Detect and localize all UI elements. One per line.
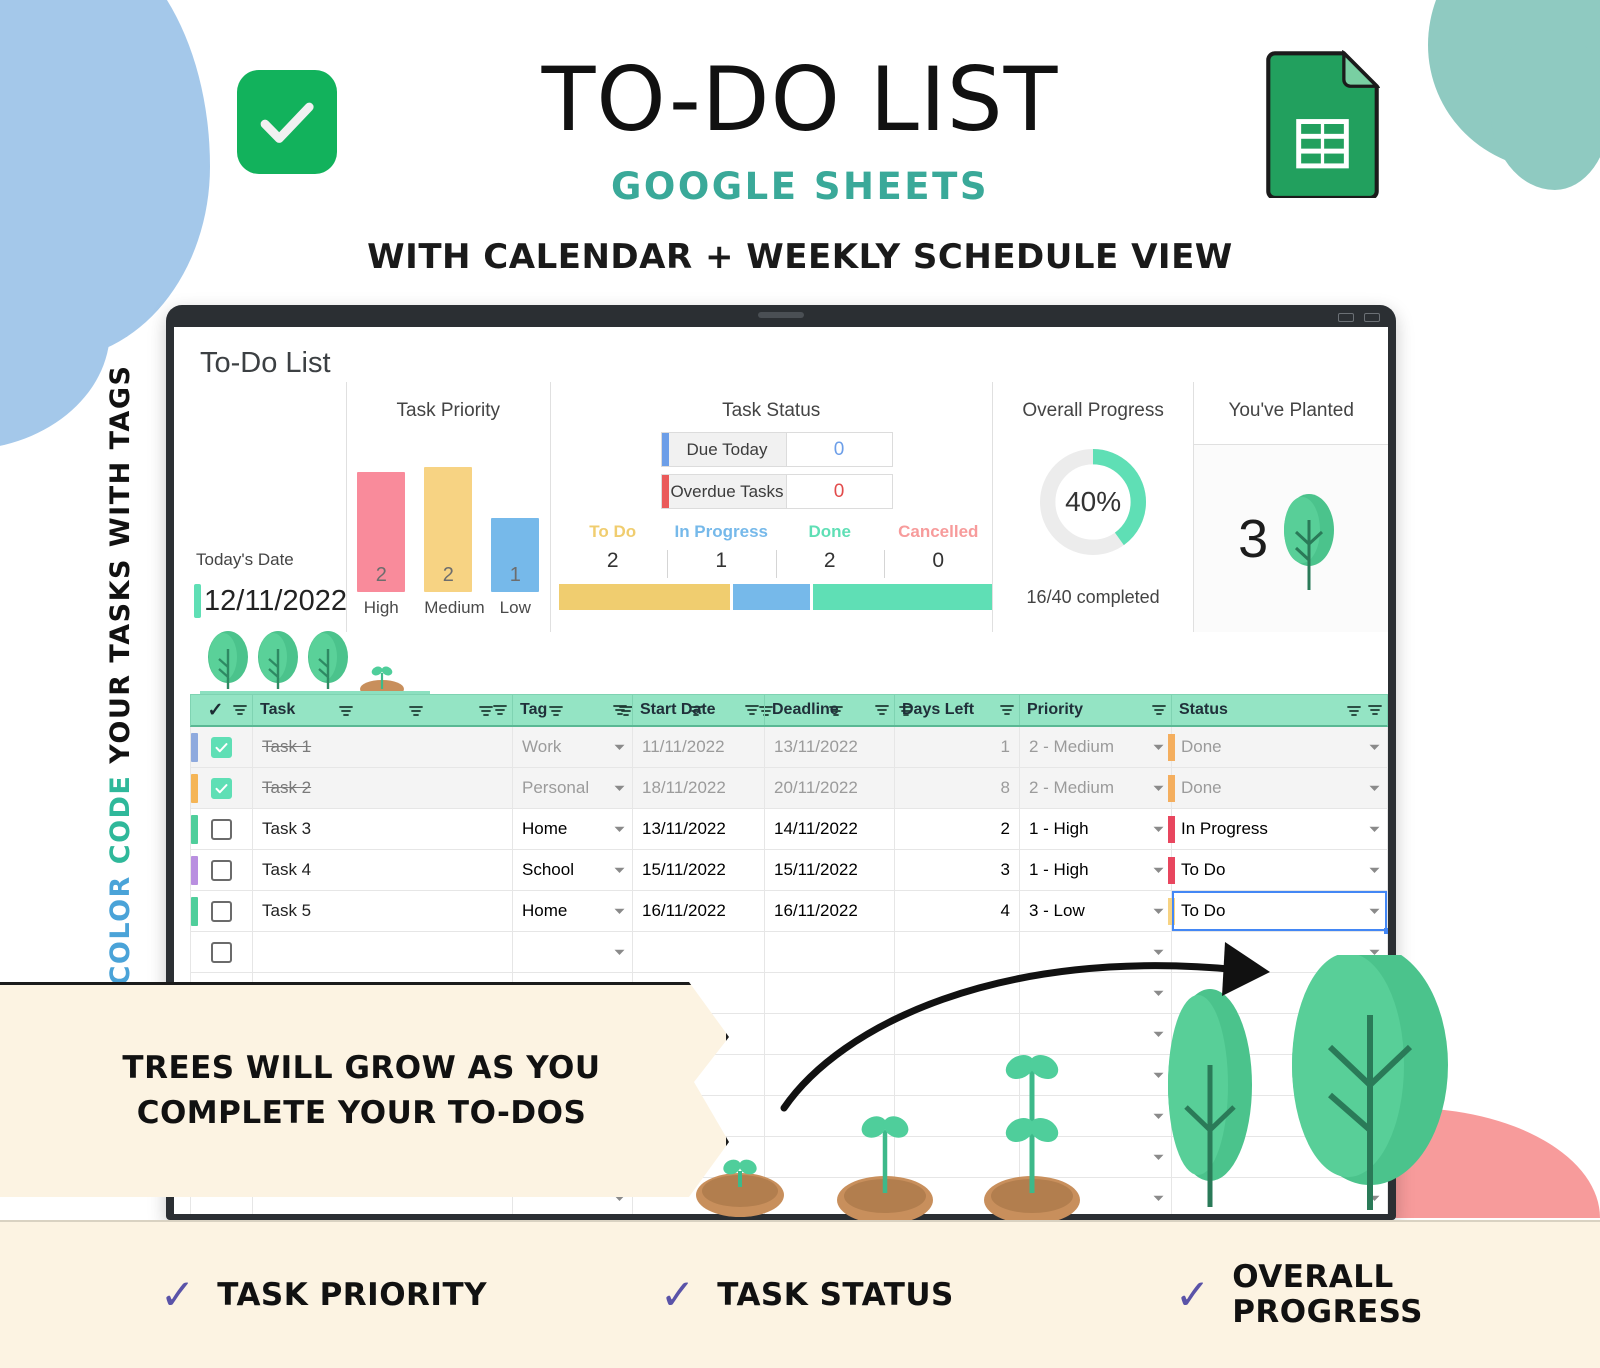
- cell-priority[interactable]: 3 - Low: [1020, 891, 1172, 931]
- panel-overall-progress: Overall Progress 40% 16/40 completed: [992, 382, 1194, 632]
- feature-label: OVERALLPROGRESS: [1232, 1260, 1423, 1329]
- status-stack-segment-done: [813, 584, 993, 610]
- cell-deadline[interactable]: 20/11/2022: [765, 768, 895, 808]
- cell-tag[interactable]: School: [513, 850, 633, 890]
- cell-tag[interactable]: Home: [513, 891, 633, 931]
- row-checkbox-cell[interactable]: [191, 727, 253, 767]
- column-header-days-left-label: Days Left: [902, 701, 974, 719]
- feature-label: TASK STATUS: [717, 1278, 954, 1313]
- cell-start-date[interactable]: 18/11/2022: [633, 768, 765, 808]
- bar-low: 1: [491, 518, 539, 592]
- cell-deadline[interactable]: 15/11/2022: [765, 850, 895, 890]
- chevron-down-icon[interactable]: [614, 826, 625, 833]
- footer-features: ✓ TASK PRIORITY ✓ TASK STATUS ✓ OVERALLP…: [0, 1220, 1600, 1368]
- row-tag-color-bar: [191, 774, 198, 803]
- bar-low-rect: 1: [491, 518, 539, 592]
- status-label-inprogress: In Progress: [667, 522, 776, 542]
- side-label-accent-1: COLOR: [105, 875, 136, 985]
- cell-days-left[interactable]: 4: [895, 891, 1020, 931]
- progress-subtitle: 16/40 completed: [993, 587, 1194, 608]
- chevron-down-icon[interactable]: [1369, 867, 1380, 874]
- filter-icon[interactable]: [745, 704, 759, 716]
- side-label-rest: YOUR TASKS WITH TAGS: [105, 365, 136, 764]
- cell-deadline[interactable]: 13/11/2022: [765, 727, 895, 767]
- kpi-overdue-label: Overdue Tasks: [669, 475, 787, 508]
- table-row[interactable]: Task 5Home16/11/202216/11/202243 - LowTo…: [190, 891, 1388, 932]
- panel-task-status: Task Status Due Today 0 Overdue Tasks 0 …: [550, 382, 992, 632]
- cell-deadline[interactable]: 14/11/2022: [765, 809, 895, 849]
- sheet-title: To-Do List: [200, 347, 331, 380]
- poster-header: TO-DO LIST GOOGLE SHEETS WITH CALENDAR +…: [0, 0, 1600, 300]
- check-icon: ✓: [1175, 1274, 1210, 1316]
- bar-high-value: 2: [376, 564, 387, 587]
- task-status-title: Task Status: [551, 400, 992, 422]
- tree-icon: [258, 631, 298, 689]
- cell-task[interactable]: Task 4: [253, 850, 513, 890]
- chevron-down-icon[interactable]: [1153, 908, 1164, 915]
- chevron-down-icon[interactable]: [614, 744, 625, 751]
- check-icon: ✓: [160, 1274, 195, 1316]
- filter-icon[interactable]: [233, 704, 247, 716]
- cell-days-left[interactable]: 2: [895, 809, 1020, 849]
- cell-status[interactable]: Done: [1172, 768, 1387, 808]
- column-header-task[interactable]: Task: [253, 695, 513, 725]
- chevron-down-icon[interactable]: [614, 867, 625, 874]
- chevron-down-icon[interactable]: [1153, 744, 1164, 751]
- bar-label-low: Low: [491, 598, 539, 618]
- task-table-header: ✓ Task: [190, 694, 1388, 727]
- cell-status[interactable]: To Do: [1172, 850, 1387, 890]
- status-col-cancelled: Cancelled 0: [884, 522, 993, 573]
- column-header-tag[interactable]: Tag: [513, 695, 633, 725]
- planted-count: 3: [1238, 508, 1268, 570]
- panel-youve-planted: You've Planted 3: [1193, 382, 1388, 632]
- chevron-down-icon[interactable]: [1153, 867, 1164, 874]
- tree-icon: [308, 631, 348, 689]
- status-label-done: Done: [776, 522, 885, 542]
- feature-task-priority: ✓ TASK PRIORITY: [160, 1274, 487, 1316]
- youve-planted-title: You've Planted: [1194, 400, 1388, 422]
- column-header-deadline[interactable]: Deadline: [765, 695, 895, 725]
- bar-medium-value: 2: [443, 564, 454, 587]
- kpi-overdue-value: 0: [787, 475, 892, 508]
- column-header-start-date-label: Start Date: [640, 701, 716, 719]
- filter-icon[interactable]: [1000, 704, 1014, 716]
- bar-high-rect: 2: [357, 472, 405, 592]
- task-priority-bars: 2 2 1: [347, 442, 549, 592]
- status-value-todo: 2: [559, 549, 668, 573]
- filter-icon[interactable]: [479, 704, 493, 722]
- task-complete-checkbox[interactable]: [211, 860, 232, 881]
- bar-medium-rect: 2: [424, 467, 472, 592]
- status-stacked-bar: [559, 584, 993, 610]
- callout-line-2: COMPLETE YOUR TO-DOS: [32, 1091, 692, 1136]
- webcam-icon: [758, 312, 804, 318]
- feature-label: TASK PRIORITY: [217, 1278, 487, 1313]
- dashboard: Today's Date 12/11/2022 Task Priority 2: [174, 382, 1388, 632]
- cell-priority[interactable]: 1 - High: [1020, 850, 1172, 890]
- column-header-start-date[interactable]: Start Date: [633, 695, 765, 725]
- cell-status[interactable]: In Progress: [1172, 809, 1387, 849]
- tree-progress-strip: [200, 625, 430, 695]
- status-col-inprogress: In Progress 1: [667, 522, 776, 573]
- cell-deadline[interactable]: 16/11/2022: [765, 891, 895, 931]
- filter-icon[interactable]: [875, 704, 889, 716]
- table-row[interactable]: Task 4School15/11/202215/11/202231 - Hig…: [190, 850, 1388, 891]
- tree-icon: [208, 631, 248, 689]
- column-header-days-left[interactable]: Days Left: [895, 695, 1020, 725]
- cell-tag[interactable]: Home: [513, 809, 633, 849]
- cell-task[interactable]: [253, 932, 513, 972]
- table-row[interactable]: Task 3Home13/11/202214/11/202221 - HighI…: [190, 809, 1388, 850]
- bar-low-value: 1: [510, 564, 521, 587]
- row-tag-color-bar: [191, 733, 198, 762]
- chevron-down-icon[interactable]: [1369, 785, 1380, 792]
- cell-tag[interactable]: Work: [513, 727, 633, 767]
- status-col-todo: To Do 2: [559, 522, 668, 573]
- task-complete-checkbox[interactable]: [211, 778, 232, 799]
- tree-icon: [1274, 486, 1344, 591]
- column-header-status-label: Status: [1179, 701, 1228, 719]
- chevron-down-icon[interactable]: [614, 785, 625, 792]
- cell-start-date[interactable]: 11/11/2022: [633, 727, 765, 767]
- row-tag-color-bar: [191, 897, 198, 926]
- bar-label-medium: Medium: [424, 598, 472, 618]
- status-value-done: 2: [776, 549, 885, 573]
- column-header-check[interactable]: ✓: [191, 695, 253, 725]
- kpi-due-today: Due Today 0: [661, 432, 893, 467]
- row-tag-color-bar: [191, 856, 198, 885]
- table-row[interactable]: Task 1Work11/11/202213/11/202212 - Mediu…: [190, 727, 1388, 768]
- task-priority-axis-labels: High Medium Low: [347, 598, 549, 618]
- column-header-status[interactable]: Status: [1172, 695, 1387, 725]
- bar-label-high: High: [357, 598, 405, 618]
- window-controls[interactable]: [1338, 313, 1380, 322]
- cell-task[interactable]: Task 5: [253, 891, 513, 931]
- row-tag-color-bar: [191, 815, 198, 844]
- cell-tag[interactable]: [513, 932, 633, 972]
- todays-date-label: Today's Date: [196, 550, 294, 570]
- task-complete-checkbox[interactable]: [211, 901, 232, 922]
- cell-priority[interactable]: 2 - Medium: [1020, 727, 1172, 767]
- filter-icon[interactable]: [1347, 704, 1361, 722]
- task-complete-checkbox[interactable]: [211, 819, 232, 840]
- progress-donut: 40%: [1036, 445, 1150, 559]
- panel-todays-date: Today's Date 12/11/2022: [174, 382, 346, 632]
- maximize-button[interactable]: [1364, 313, 1380, 322]
- cell-priority[interactable]: 1 - High: [1020, 809, 1172, 849]
- chevron-down-icon[interactable]: [614, 949, 625, 956]
- bar-medium: 2: [424, 467, 472, 592]
- cell-start-date[interactable]: 15/11/2022: [633, 850, 765, 890]
- kpi-due-value: 0: [787, 433, 892, 466]
- feature-task-status: ✓ TASK STATUS: [660, 1274, 954, 1316]
- filter-icon[interactable]: [613, 704, 627, 716]
- cell-task[interactable]: Task 2: [253, 768, 513, 808]
- filter-icon[interactable]: [1152, 704, 1166, 716]
- filter-icon[interactable]: [1368, 704, 1382, 716]
- date-accent-bar: [194, 584, 201, 618]
- minimize-button[interactable]: [1338, 313, 1354, 322]
- page-tagline: WITH CALENDAR + WEEKLY SCHEDULE VIEW: [0, 237, 1600, 277]
- status-stack-segment-to-do: [559, 584, 730, 610]
- panel-task-priority: Task Priority 2 2: [346, 382, 549, 632]
- cell-start-date[interactable]: 16/11/2022: [633, 891, 765, 931]
- column-header-deadline-label: Deadline: [772, 701, 839, 719]
- cell-status[interactable]: Done: [1172, 727, 1387, 767]
- row-checkbox-cell[interactable]: [191, 932, 253, 972]
- cell-tag[interactable]: Personal: [513, 768, 633, 808]
- column-header-task-label: Task: [260, 701, 295, 719]
- overall-progress-title: Overall Progress: [993, 400, 1194, 422]
- page-subtitle: GOOGLE SHEETS: [0, 165, 1600, 208]
- row-checkbox-cell[interactable]: [191, 850, 253, 890]
- tree-strip-icons: [200, 625, 430, 695]
- filter-icon[interactable]: [493, 704, 507, 716]
- progress-percent: 40%: [1036, 445, 1150, 559]
- cell-days-left[interactable]: 3: [895, 850, 1020, 890]
- status-value-inprogress: 1: [667, 549, 776, 573]
- check-column-icon: ✓: [208, 699, 224, 722]
- callout-line-1: TREES WILL GROW AS YOU: [32, 1046, 692, 1091]
- youve-planted-box: 3: [1194, 444, 1388, 632]
- growth-arrow-icon: [770, 930, 1330, 1120]
- todays-date-value: 12/11/2022: [204, 585, 347, 618]
- filter-icon[interactable]: [339, 704, 353, 722]
- side-label: COLOR CODE YOUR TASKS WITH TAGS: [100, 365, 140, 985]
- status-label-todo: To Do: [559, 522, 668, 542]
- column-header-tag-label: Tag: [520, 701, 547, 719]
- chevron-down-icon[interactable]: [1369, 826, 1380, 833]
- filter-icon[interactable]: [409, 704, 423, 722]
- cell-start-date[interactable]: 13/11/2022: [633, 809, 765, 849]
- cell-status[interactable]: To Do: [1172, 891, 1387, 931]
- task-priority-title: Task Priority: [347, 400, 549, 422]
- chevron-down-icon[interactable]: [1369, 744, 1380, 751]
- column-header-priority-label: Priority: [1027, 701, 1083, 719]
- feature-overall-progress: ✓ OVERALLPROGRESS: [1175, 1260, 1423, 1329]
- kpi-due-label: Due Today: [669, 433, 787, 466]
- poster-canvas: TO-DO LIST GOOGLE SHEETS WITH CALENDAR +…: [0, 0, 1600, 1368]
- chevron-down-icon[interactable]: [1369, 908, 1380, 915]
- column-header-priority[interactable]: Priority: [1020, 695, 1172, 725]
- sprout-icon: [360, 665, 404, 695]
- task-complete-checkbox[interactable]: [211, 942, 232, 963]
- cell-days-left[interactable]: 8: [895, 768, 1020, 808]
- callout-box: TREES WILL GROW AS YOU COMPLETE YOUR TO-…: [0, 982, 729, 1200]
- status-value-cancelled: 0: [884, 549, 993, 573]
- status-breakdown: To Do 2 In Progress 1 Done 2 Cancelled: [559, 522, 993, 573]
- row-checkbox-cell[interactable]: [191, 891, 253, 931]
- status-label-cancelled: Cancelled: [884, 522, 993, 542]
- kpi-overdue-tasks: Overdue Tasks 0: [661, 474, 893, 509]
- cell-priority[interactable]: 2 - Medium: [1020, 768, 1172, 808]
- chevron-down-icon[interactable]: [614, 908, 625, 915]
- page-title: TO-DO LIST: [0, 48, 1600, 151]
- bar-high: 2: [357, 472, 405, 592]
- cell-days-left[interactable]: 1: [895, 727, 1020, 767]
- side-label-accent-2: CODE: [105, 775, 136, 865]
- table-row[interactable]: Task 2Personal18/11/202220/11/202282 - M…: [190, 768, 1388, 809]
- task-complete-checkbox[interactable]: [211, 737, 232, 758]
- cell-task[interactable]: Task 1: [253, 727, 513, 767]
- row-checkbox-cell[interactable]: [191, 809, 253, 849]
- row-checkbox-cell[interactable]: [191, 768, 253, 808]
- status-col-done: Done 2: [776, 522, 885, 573]
- chevron-down-icon[interactable]: [1153, 785, 1164, 792]
- chevron-down-icon[interactable]: [1153, 826, 1164, 833]
- status-stack-segment-in-progress: [733, 584, 810, 610]
- check-icon: ✓: [660, 1274, 695, 1316]
- cell-task[interactable]: Task 3: [253, 809, 513, 849]
- kpi-overdue-accent: [662, 475, 669, 508]
- kpi-due-accent: [662, 433, 669, 466]
- sprout-icon-medium: [837, 1112, 933, 1224]
